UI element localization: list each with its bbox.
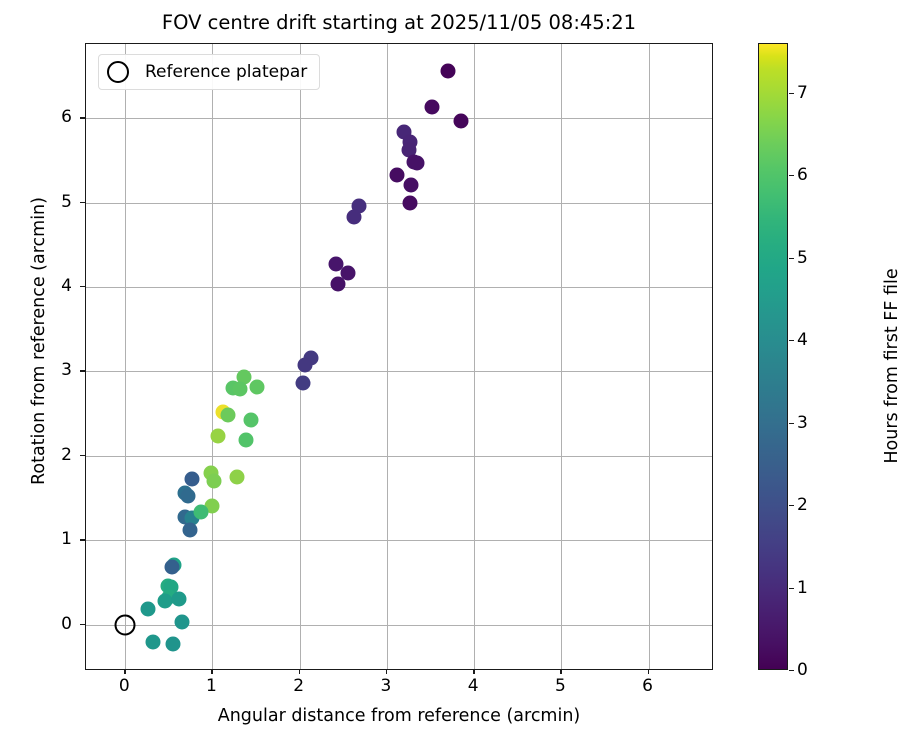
gridline-vertical — [125, 44, 126, 669]
scatter-point — [185, 471, 200, 486]
legend-marker-open-circle-icon — [107, 61, 129, 83]
scatter-point — [207, 474, 222, 489]
x-tick-mark — [560, 669, 561, 674]
scatter-point — [454, 113, 469, 128]
scatter-point — [165, 560, 180, 575]
scatter-point — [181, 489, 196, 504]
legend-label: Reference platepar — [145, 62, 307, 82]
scatter-point — [297, 357, 312, 372]
scatter-point — [233, 382, 248, 397]
y-tick-label: 6 — [61, 107, 72, 127]
scatter-point — [243, 413, 258, 428]
scatter-point — [229, 469, 244, 484]
scatter-point — [238, 432, 253, 447]
scatter-point — [440, 64, 455, 79]
gridline-vertical — [300, 44, 301, 669]
y-tick-label: 3 — [61, 360, 72, 380]
colorbar-tick-mark — [789, 670, 794, 671]
scatter-point — [331, 276, 346, 291]
gridline-horizontal — [86, 456, 712, 457]
colorbar-tick-label: 5 — [797, 248, 808, 268]
scatter-point — [409, 155, 424, 170]
gridline-vertical — [561, 44, 562, 669]
scatter-point — [249, 380, 264, 395]
colorbar-gradient — [758, 43, 788, 670]
scatter-point — [140, 602, 155, 617]
legend[interactable]: Reference platepar — [98, 54, 320, 90]
scatter-point — [174, 615, 189, 630]
y-tick-label: 5 — [61, 192, 72, 212]
x-tick-mark — [648, 669, 649, 674]
x-tick-label: 6 — [642, 676, 653, 696]
gridline-horizontal — [86, 203, 712, 204]
scatter-point — [425, 100, 440, 115]
colorbar-tick-mark — [789, 258, 794, 259]
y-tick-mark — [80, 117, 85, 118]
y-axis-label: Rotation from reference (arcmin) — [29, 27, 49, 655]
colorbar-tick-label: 2 — [797, 495, 808, 515]
y-tick-label: 4 — [61, 276, 72, 296]
colorbar-label: Hours from first FF file — [882, 52, 900, 680]
gridline-horizontal — [86, 371, 712, 372]
colorbar-tick-mark — [789, 423, 794, 424]
y-tick-label: 1 — [61, 529, 72, 549]
scatter-point — [194, 505, 209, 520]
x-tick-mark — [124, 669, 125, 674]
colorbar — [758, 43, 788, 670]
scatter-point — [390, 167, 405, 182]
colorbar-tick-mark — [789, 340, 794, 341]
y-tick-mark — [80, 202, 85, 203]
gridline-horizontal — [86, 540, 712, 541]
scatter-point — [210, 429, 225, 444]
x-tick-label: 0 — [119, 676, 130, 696]
gridline-vertical — [474, 44, 475, 669]
colorbar-tick-label: 7 — [797, 83, 808, 103]
y-tick-mark — [80, 286, 85, 287]
page-title: FOV centre drift starting at 2025/11/05 … — [85, 11, 713, 34]
y-tick-mark — [80, 624, 85, 625]
matplotlib-figure: FOV centre drift starting at 2025/11/05 … — [0, 0, 900, 750]
colorbar-tick-mark — [789, 588, 794, 589]
y-tick-label: 2 — [61, 445, 72, 465]
x-tick-label: 5 — [555, 676, 566, 696]
x-tick-mark — [211, 669, 212, 674]
x-tick-label: 3 — [380, 676, 391, 696]
colorbar-tick-label: 4 — [797, 330, 808, 350]
gridline-vertical — [649, 44, 650, 669]
y-tick-label: 0 — [61, 614, 72, 634]
scatter-point — [346, 209, 361, 224]
gridline-horizontal — [86, 118, 712, 119]
scatter-point — [221, 408, 236, 423]
scatter-point — [172, 592, 187, 607]
scatter-point — [166, 636, 181, 651]
colorbar-tick-mark — [789, 175, 794, 176]
x-axis-label: Angular distance from reference (arcmin) — [85, 706, 713, 726]
gridline-vertical — [387, 44, 388, 669]
plot-area — [85, 43, 713, 670]
y-tick-mark — [80, 539, 85, 540]
gridline-vertical — [212, 44, 213, 669]
scatter-point — [404, 177, 419, 192]
colorbar-tick-mark — [789, 505, 794, 506]
colorbar-tick-mark — [789, 93, 794, 94]
x-tick-label: 1 — [206, 676, 217, 696]
scatter-point — [296, 376, 311, 391]
x-tick-label: 4 — [468, 676, 479, 696]
y-tick-mark — [80, 370, 85, 371]
colorbar-tick-label: 6 — [797, 165, 808, 185]
gridline-horizontal — [86, 287, 712, 288]
reference-platepar-marker — [115, 614, 136, 635]
scatter-point — [182, 523, 197, 538]
x-tick-mark — [473, 669, 474, 674]
x-tick-mark — [386, 669, 387, 674]
colorbar-tick-label: 0 — [797, 660, 808, 680]
scatter-point — [158, 593, 173, 608]
scatter-point — [403, 196, 418, 211]
scatter-point — [146, 635, 161, 650]
colorbar-tick-label: 1 — [797, 578, 808, 598]
y-tick-mark — [80, 455, 85, 456]
x-tick-label: 2 — [293, 676, 304, 696]
colorbar-tick-label: 3 — [797, 413, 808, 433]
x-tick-mark — [299, 669, 300, 674]
